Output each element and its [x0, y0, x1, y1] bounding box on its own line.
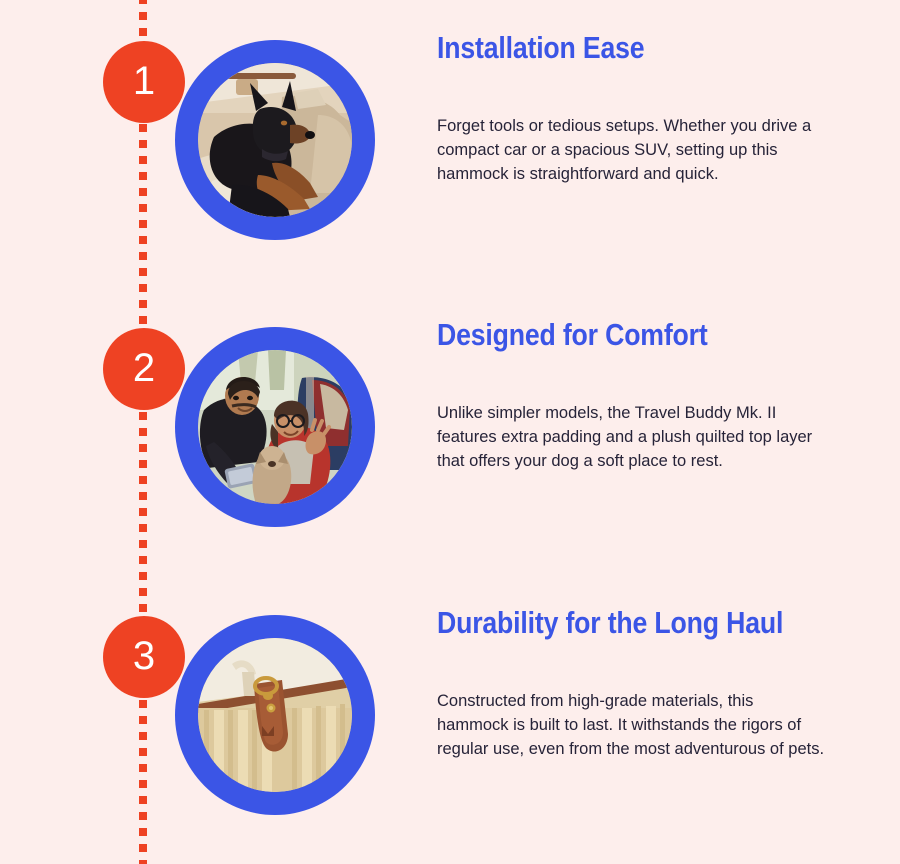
- step-body-1: Forget tools or tedious setups. Whether …: [437, 66, 827, 186]
- step-number-badge-2: 2: [103, 328, 185, 410]
- step-number-badge-1: 1: [103, 41, 185, 123]
- step-title-3: Durability for the Long Haul: [437, 605, 781, 641]
- step-title-1: Installation Ease: [437, 30, 781, 66]
- step-body-2: Unlike simpler models, the Travel Buddy …: [437, 353, 827, 473]
- step-number-label: 1: [133, 61, 155, 101]
- quilted-fabric-strap-buckle-illustration: [198, 638, 352, 792]
- step-body-3: Constructed from high-grade materials, t…: [437, 641, 829, 761]
- step-number-label: 3: [133, 636, 155, 676]
- step-photo-2: [198, 350, 352, 504]
- step-photo-ring-2: [175, 327, 375, 527]
- step-text-1: Installation Ease Forget tools or tediou…: [437, 30, 837, 186]
- step-photo-ring-1: [175, 40, 375, 240]
- step-text-3: Durability for the Long Haul Constructed…: [437, 605, 837, 761]
- step-photo-ring-3: [175, 615, 375, 815]
- step-photo-1: [198, 63, 352, 217]
- step-number-label: 2: [133, 348, 155, 388]
- step-title-2: Designed for Comfort: [437, 317, 781, 353]
- step-text-2: Designed for Comfort Unlike simpler mode…: [437, 317, 837, 473]
- dog-in-car-illustration: [198, 63, 352, 217]
- steps-list: 1: [0, 0, 900, 860]
- infographic-page: { "theme": { "background": "#fdeeec", "a…: [0, 0, 900, 860]
- step-photo-3: [198, 638, 352, 792]
- couple-selfie-with-dog-illustration: [198, 350, 352, 504]
- step-number-badge-3: 3: [103, 616, 185, 698]
